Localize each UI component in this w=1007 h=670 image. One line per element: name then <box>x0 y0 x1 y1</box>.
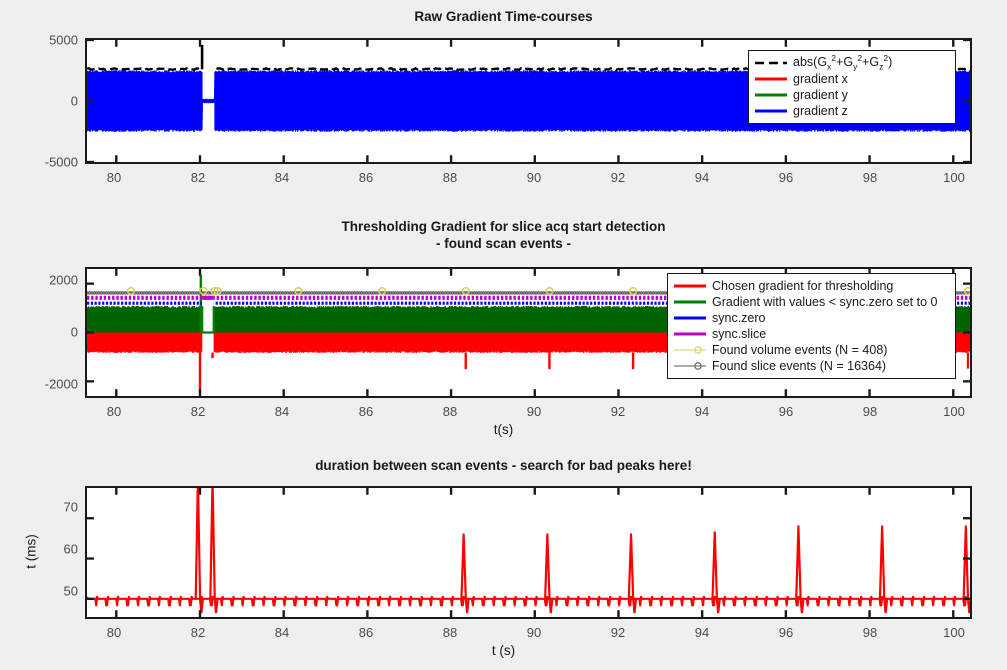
subplot3-plot-area <box>87 488 970 617</box>
subplot1-title: Raw Gradient Time-courses <box>0 8 1007 25</box>
legend-label-slice-events: Found slice events (N = 16364) <box>712 359 886 374</box>
subplot3-xtick-1: 82 <box>191 625 205 640</box>
subplot-raw-gradient: Raw Gradient Time-courses 5000 0 -5000 8… <box>0 0 1007 200</box>
line-sample-icon <box>673 311 707 325</box>
subplot1-xtick-6: 92 <box>611 170 625 185</box>
subplot-thresholding: Thresholding Gradient for slice acq star… <box>0 205 1007 440</box>
legend-item-sync-slice[interactable]: sync.slice <box>673 326 949 342</box>
dashed-line-sample-icon <box>754 56 788 70</box>
line-sample-icon <box>754 72 788 86</box>
legend-label-volume-events: Found volume events (N = 408) <box>712 343 887 358</box>
line-circle-marker-sample-icon <box>673 343 707 357</box>
subplot1-xtick-5: 90 <box>527 170 541 185</box>
subplot2-ytick-1: 0 <box>20 325 78 340</box>
legend-item-slice-events[interactable]: Found slice events (N = 16364) <box>673 358 949 374</box>
subplot2-xtick-2: 84 <box>275 404 289 419</box>
subplot2-xtick-9: 98 <box>863 404 877 419</box>
subplot1-xtick-9: 98 <box>863 170 877 185</box>
subplot2-ytick-2: -2000 <box>20 377 78 392</box>
subplot2-xlabel: t(s) <box>0 422 1007 437</box>
subplot3-xtick-4: 88 <box>443 625 457 640</box>
legend-item-abs-gradient[interactable]: abs(Gx2+Gy2+Gz2) <box>754 55 949 71</box>
matlab-figure: Raw Gradient Time-courses 5000 0 -5000 8… <box>0 0 1007 670</box>
subplot3-xtick-3: 86 <box>359 625 373 640</box>
subplot2-xtick-7: 94 <box>695 404 709 419</box>
legend-item-volume-events[interactable]: Found volume events (N = 408) <box>673 342 949 358</box>
subplot3-xtick-5: 90 <box>527 625 541 640</box>
subplot1-xtick-10: 100 <box>943 170 965 185</box>
subplot2-xtick-8: 96 <box>779 404 793 419</box>
subplot2-xtick-3: 86 <box>359 404 373 419</box>
subplot3-xtick-0: 80 <box>107 625 121 640</box>
legend-item-gradient-zeroed[interactable]: Gradient with values < sync.zero set to … <box>673 294 949 310</box>
line-sample-icon <box>673 327 707 341</box>
subplot1-xtick-8: 96 <box>779 170 793 185</box>
subplot2-xtick-6: 92 <box>611 404 625 419</box>
legend-label-sync-slice: sync.slice <box>712 327 766 342</box>
subplot3-xtick-9: 98 <box>863 625 877 640</box>
subplot3-ylabel: t (ms) <box>24 512 39 592</box>
subplot2-xtick-4: 88 <box>443 404 457 419</box>
subplot1-xtick-3: 86 <box>359 170 373 185</box>
legend-item-gradient-y[interactable]: gradient y <box>754 87 949 103</box>
subplot2-xtick-10: 100 <box>943 404 965 419</box>
subplot3-xlabel: t (s) <box>0 643 1007 658</box>
legend-label-gradient-z: gradient z <box>793 104 848 119</box>
legend-label-chosen-gradient: Chosen gradient for thresholding <box>712 279 893 294</box>
line-sample-icon <box>673 295 707 309</box>
subplot3-xtick-6: 92 <box>611 625 625 640</box>
line-circle-marker-sample-icon <box>673 359 707 373</box>
subplot3-title: duration between scan events - search fo… <box>0 457 1007 474</box>
subplot1-ytick-0: 5000 <box>20 33 78 48</box>
subplot1-xtick-1: 82 <box>191 170 205 185</box>
subplot3-axes <box>85 486 972 619</box>
legend-item-chosen-gradient[interactable]: Chosen gradient for thresholding <box>673 278 949 294</box>
subplot3-xtick-7: 94 <box>695 625 709 640</box>
subplot1-xtick-2: 84 <box>275 170 289 185</box>
subplot3-xtick-10: 100 <box>943 625 965 640</box>
subplot1-xtick-7: 94 <box>695 170 709 185</box>
subplot2-ytick-0: 2000 <box>20 273 78 288</box>
subplot3-xtick-8: 96 <box>779 625 793 640</box>
subplot1-xtick-0: 80 <box>107 170 121 185</box>
subplot1-xtick-4: 88 <box>443 170 457 185</box>
line-sample-icon <box>754 104 788 118</box>
subplot3-xtick-2: 84 <box>275 625 289 640</box>
legend-label-gradient-y: gradient y <box>793 88 848 103</box>
line-sample-icon <box>754 88 788 102</box>
subplot2-xtick-5: 90 <box>527 404 541 419</box>
legend-label-sync-zero: sync.zero <box>712 311 766 326</box>
subplot2-legend[interactable]: Chosen gradient for thresholding Gradien… <box>667 273 956 379</box>
subplot1-ytick-1: 0 <box>20 94 78 109</box>
legend-label-gradient-zeroed: Gradient with values < sync.zero set to … <box>712 295 937 310</box>
legend-item-gradient-z[interactable]: gradient z <box>754 103 949 119</box>
subplot1-legend[interactable]: abs(Gx2+Gy2+Gz2) gradient x gradient y g… <box>748 50 956 124</box>
subplot2-xtick-1: 82 <box>191 404 205 419</box>
legend-item-sync-zero[interactable]: sync.zero <box>673 310 949 326</box>
subplot-duration: duration between scan events - search fo… <box>0 445 1007 670</box>
subplot2-xtick-0: 80 <box>107 404 121 419</box>
subplot1-ytick-2: -5000 <box>20 155 78 170</box>
subplot2-title: Thresholding Gradient for slice acq star… <box>0 218 1007 252</box>
line-sample-icon <box>673 279 707 293</box>
legend-label-gradient-x: gradient x <box>793 72 848 87</box>
